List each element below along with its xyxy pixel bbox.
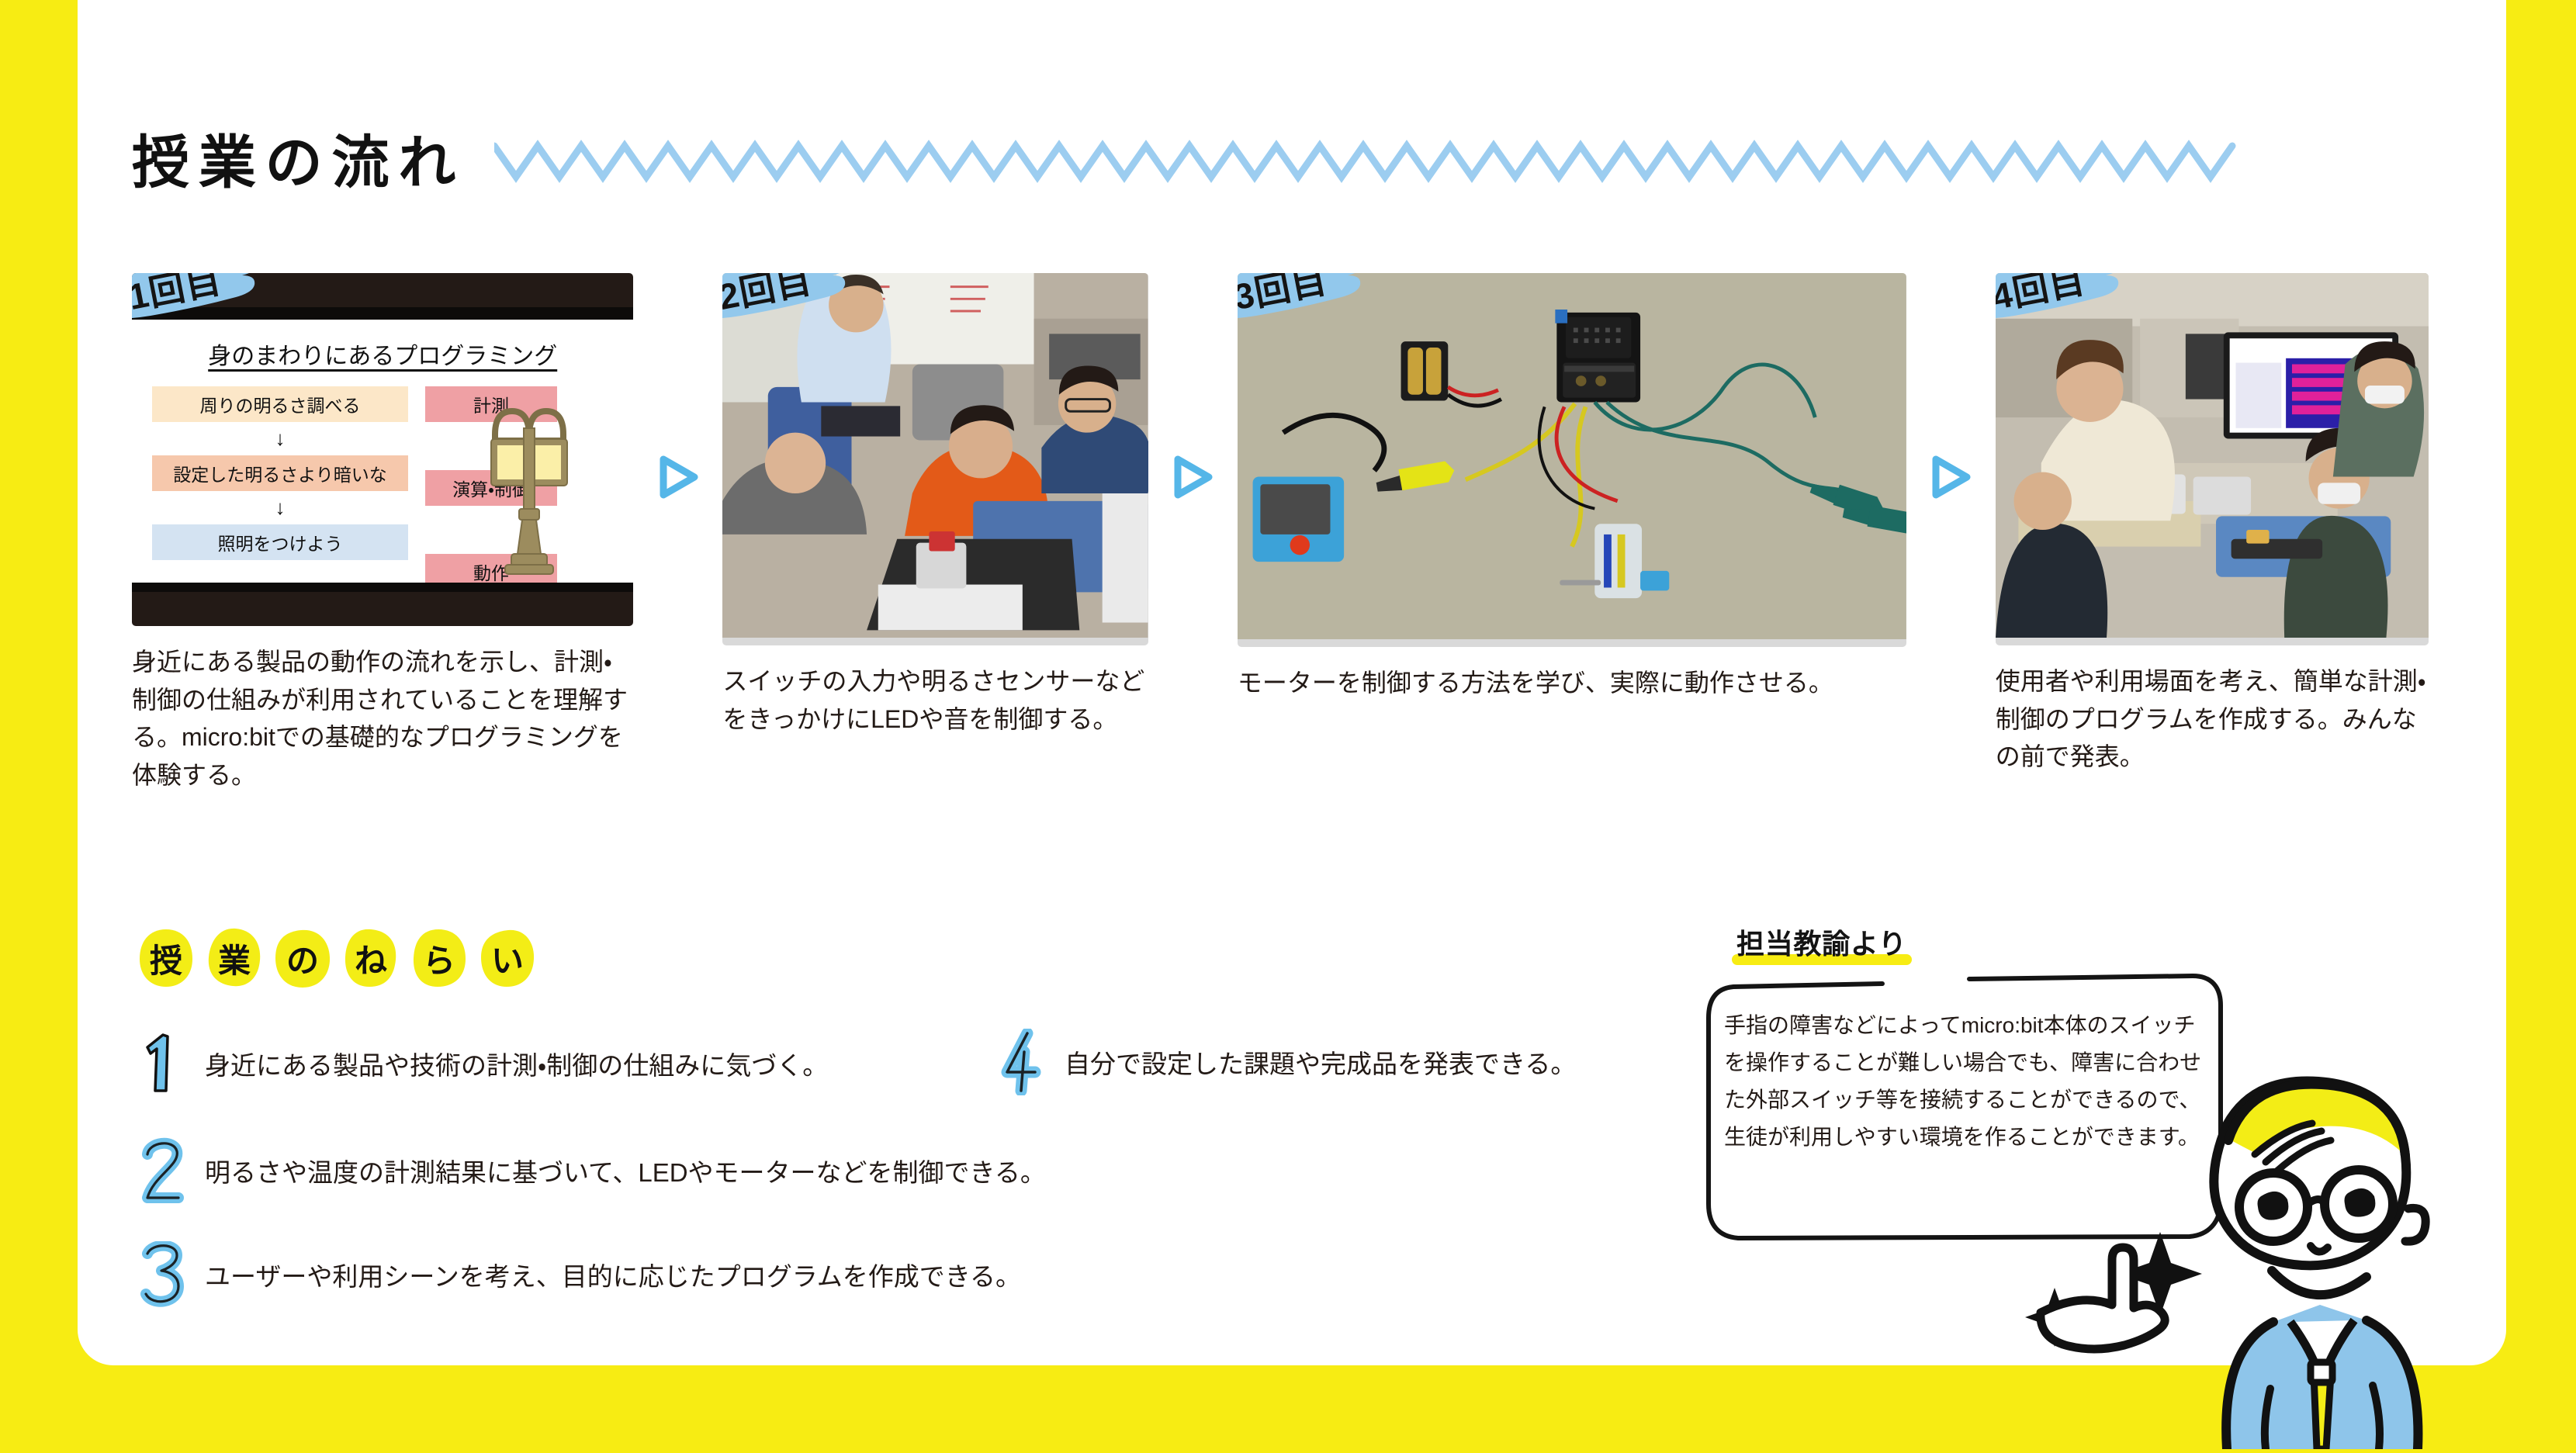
aim-item-2: 明るさや温度の計測結果に基づいて、LEDやモーターなどを制御できる。 bbox=[140, 1137, 1046, 1204]
flow-step-2: 設定した明るさより暗いな bbox=[152, 455, 408, 491]
student-character-pointing-icon bbox=[1994, 1024, 2553, 1449]
slide-title: 身のまわりにあるプログラミング bbox=[132, 337, 633, 371]
step-1-caption: 身近にある製品の動作の流れを示し、計測・制御の仕組みが利用されていることを理解す… bbox=[132, 643, 633, 794]
step-arrow-3-4 bbox=[1906, 273, 1996, 501]
slide-bottom-bar-2 bbox=[132, 583, 633, 592]
step-badge-2: 2回目 bbox=[722, 273, 854, 329]
slide-body: 身のまわりにあるプログラミング 周りの明るさ調べる ↓ 設定した明るさより暗いな… bbox=[132, 320, 633, 583]
slide-flow-column: 周りの明るさ調べる ↓ 設定した明るさより暗いな ↓ 照明をつけよう bbox=[152, 386, 408, 560]
aims-heading-char-4: ら bbox=[411, 928, 467, 988]
aims-heading-char-5: い bbox=[480, 928, 535, 988]
step-3-caption: モーターを制御する方法を学び、実際に動作させる。 bbox=[1238, 664, 1906, 702]
aim-number-4-icon bbox=[999, 1029, 1047, 1095]
flow-arrow-1: ↓ bbox=[152, 422, 408, 455]
aims-heading-char-3: ね bbox=[343, 928, 399, 988]
aims-heading-char-0: 授 bbox=[138, 928, 194, 988]
zigzag-divider-icon bbox=[494, 140, 2240, 189]
step-card-1: 身のまわりにあるプログラミング 周りの明るさ調べる ↓ 設定した明るさより暗いな… bbox=[132, 273, 633, 794]
aims-heading-char-2: の bbox=[275, 928, 331, 988]
step-badge-3: 3回目 bbox=[1238, 273, 1369, 329]
step-card-2: 2回目 スイッチの入力や明るさセンサーなどをきっかけにLEDや音を制御する。 bbox=[722, 273, 1148, 738]
flow-arrow-2: ↓ bbox=[152, 491, 408, 524]
aim-item-3: ユーザーや利用シーンを考え、目的に応じたプログラムを作成できる。 bbox=[140, 1241, 1021, 1308]
step-badge-4: 4回目 bbox=[1996, 273, 2128, 329]
page-title: 授業の流れ bbox=[132, 116, 465, 199]
flow-step-1: 周りの明るさ調べる bbox=[152, 386, 408, 422]
student-character-illustration bbox=[1994, 1024, 2553, 1449]
aim-number-3-icon bbox=[140, 1241, 188, 1308]
page-header: 授業の流れ bbox=[132, 116, 2240, 199]
aim-number-2-icon bbox=[140, 1137, 188, 1204]
aim-text-1: 身近にある製品や技術の計測・制御の仕組みに気づく。 bbox=[205, 1045, 828, 1082]
aim-item-1: 身近にある製品や技術の計測・制御の仕組みに気づく。 bbox=[140, 1030, 828, 1097]
step-2-caption: スイッチの入力や明るさセンサーなどをきっかけにLEDや音を制御する。 bbox=[722, 662, 1148, 738]
step-card-4: 4回目 使用者や利用場面を考え、簡単な計測・制御のプログラムを作成する。みんなの… bbox=[1996, 273, 2429, 776]
step-3-media: 3回目 bbox=[1238, 273, 1906, 647]
aim-text-4: 自分で設定した課題や完成品を発表できる。 bbox=[1065, 1043, 1576, 1081]
step-4-caption: 使用者や利用場面を考え、簡単な計測・制御のプログラムを作成する。みんなの前で発表… bbox=[1996, 662, 2429, 776]
aim-text-3: ユーザーや利用シーンを考え、目的に応じたプログラムを作成できる。 bbox=[205, 1256, 1021, 1293]
step-2-media: 2回目 bbox=[722, 273, 1148, 645]
flow-step-3: 照明をつけよう bbox=[152, 524, 408, 560]
aims-heading: 授 業 の ね ら い bbox=[138, 928, 535, 988]
step-4-media: 4回目 bbox=[1996, 273, 2429, 645]
teacher-comment-label: 担当教諭より bbox=[1736, 922, 1907, 962]
street-lamp-illustration: 街灯 bbox=[452, 382, 607, 613]
triangle-right-icon bbox=[1169, 453, 1217, 501]
aim-text-2: 明るさや温度の計測結果に基づいて、LEDやモーターなどを制御できる。 bbox=[205, 1152, 1046, 1189]
step-card-3: 3回目 モーターを制御する方法を学び、実際に動作させる。 bbox=[1238, 273, 1906, 702]
step-1-media: 身のまわりにあるプログラミング 周りの明るさ調べる ↓ 設定した明るさより暗いな… bbox=[132, 273, 633, 626]
step-arrow-2-3 bbox=[1148, 273, 1238, 501]
lesson-steps: 身のまわりにあるプログラミング 周りの明るさ調べる ↓ 設定した明るさより暗いな… bbox=[132, 273, 2429, 847]
street-lamp-icon bbox=[463, 382, 595, 576]
aim-item-4: 自分で設定した課題や完成品を発表できる。 bbox=[999, 1029, 1576, 1095]
step-arrow-1-2 bbox=[633, 273, 722, 501]
triangle-right-icon bbox=[1927, 453, 1975, 501]
step-badge-1: 1回目 bbox=[132, 273, 264, 329]
aims-heading-char-1: 業 bbox=[206, 928, 262, 988]
teacher-comment-label-wrap: 担当教諭より bbox=[1736, 922, 1907, 962]
slide-bottom-bar bbox=[132, 592, 633, 626]
triangle-right-icon bbox=[654, 453, 702, 501]
aim-number-1-icon bbox=[140, 1030, 188, 1097]
